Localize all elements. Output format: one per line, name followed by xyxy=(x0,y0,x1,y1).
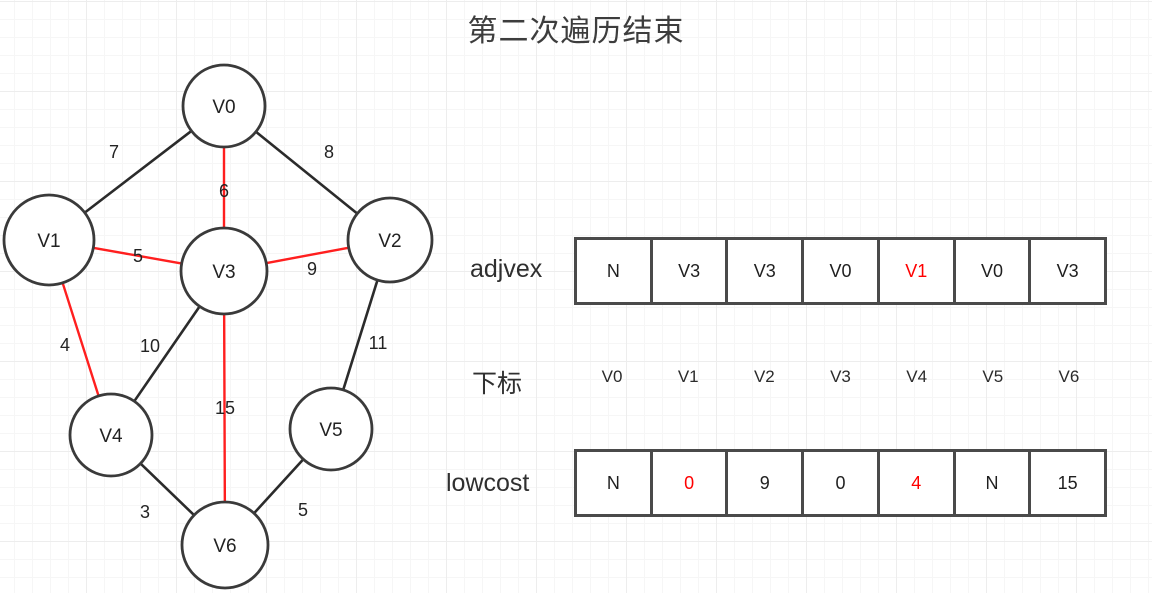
adjvex-cell: V3 xyxy=(1031,240,1104,302)
edge-weight-v3-v4: 10 xyxy=(138,336,162,357)
graph-node-v5: V5 xyxy=(290,388,372,470)
node-label: V0 xyxy=(212,97,235,118)
index-cell: V6 xyxy=(1031,367,1107,387)
lowcost-cell: N xyxy=(577,452,653,514)
edge-weight-v1-v4: 4 xyxy=(53,335,77,356)
index-cell: V1 xyxy=(650,367,726,387)
index-cell: V0 xyxy=(574,367,650,387)
index-cell: V4 xyxy=(879,367,955,387)
index-cell: V5 xyxy=(955,367,1031,387)
node-label: V5 xyxy=(319,420,342,441)
adjvex-row: NV3V3V0V1V0V3 xyxy=(574,237,1107,305)
graph-node-v1: V1 xyxy=(4,195,94,285)
adjvex-cell: V3 xyxy=(653,240,729,302)
lowcost-cell: 0 xyxy=(653,452,729,514)
edge-weight-v2-v5: 11 xyxy=(366,333,390,354)
lowcost-cell: 0 xyxy=(804,452,880,514)
lowcost-cell: N xyxy=(956,452,1032,514)
graph-node-v0: V0 xyxy=(183,65,265,147)
lowcost-cell: 15 xyxy=(1031,452,1104,514)
edge-weight-v1-v3: 5 xyxy=(126,246,150,267)
index-row-label: 下标 xyxy=(472,364,522,400)
graph-node-v2: V2 xyxy=(348,198,432,282)
graph-node-v4: V4 xyxy=(70,394,152,476)
edge-weight-v5-v6: 5 xyxy=(291,500,315,521)
node-label: V6 xyxy=(213,536,236,557)
index-row: V0V1V2V3V4V5V6 xyxy=(574,367,1107,387)
adjvex-cell: V0 xyxy=(804,240,880,302)
edge-weight-v4-v6: 3 xyxy=(133,502,157,523)
graph-edge-v0-v1 xyxy=(84,130,192,213)
graph-node-v3: V3 xyxy=(181,228,267,314)
lowcost-row: N0904N15 xyxy=(574,449,1107,517)
node-label: V2 xyxy=(378,231,401,252)
adjvex-row-label: adjvex xyxy=(470,255,542,284)
edge-weight-v2-v3: 9 xyxy=(300,259,324,280)
graph-node-v6: V6 xyxy=(182,502,268,588)
lowcost-row-label: lowcost xyxy=(446,469,529,498)
edge-weight-v0-v3: 6 xyxy=(212,181,236,202)
graph-svg: V0V1V2V3V4V5V6 xyxy=(0,0,470,593)
node-label: V1 xyxy=(37,231,60,252)
graph-edge-v0-v2 xyxy=(255,131,358,214)
adjvex-cell: V0 xyxy=(956,240,1032,302)
edge-weight-v3-v6: 15 xyxy=(213,398,237,419)
index-cell: V2 xyxy=(726,367,802,387)
adjvex-cell: V1 xyxy=(880,240,956,302)
edge-weight-v0-v1: 7 xyxy=(102,142,126,163)
node-label: V3 xyxy=(212,262,235,283)
lowcost-cell: 4 xyxy=(880,452,956,514)
index-cell: V3 xyxy=(802,367,878,387)
adjvex-cell: N xyxy=(577,240,653,302)
graph-diagram: V0V1V2V3V4V5V6 78654911101535 xyxy=(0,0,470,593)
node-label: V4 xyxy=(99,426,123,447)
lowcost-cell: 9 xyxy=(728,452,804,514)
adjvex-cell: V3 xyxy=(728,240,804,302)
edge-weight-v0-v2: 8 xyxy=(317,142,341,163)
